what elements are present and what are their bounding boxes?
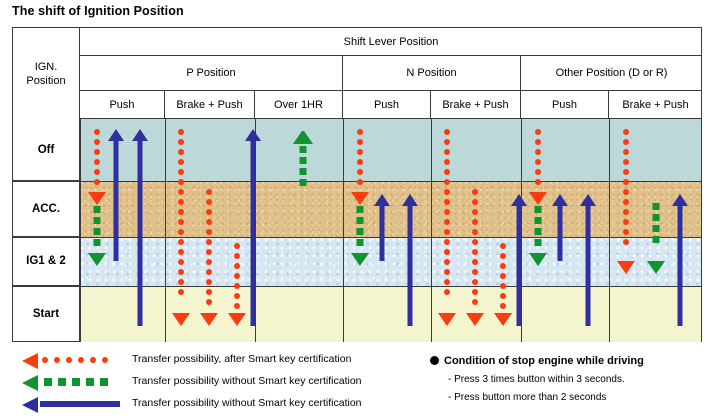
row-label-start: Start bbox=[13, 286, 80, 342]
corner-header-ign-position: IGN. Position bbox=[13, 28, 80, 119]
row-label-acc: ACC. bbox=[13, 181, 80, 237]
arrow-p-over1hr-green-acc-to-off bbox=[293, 131, 313, 206]
subheader-other-push: Push bbox=[521, 91, 609, 119]
bullet-icon bbox=[430, 356, 439, 365]
ignition-shift-table: IGN. Position Shift Lever Position P Pos… bbox=[12, 27, 702, 342]
arrow-p-push-red-off-to-acc bbox=[87, 129, 107, 205]
arrow-other-brake-red-off-to-ig bbox=[616, 129, 636, 274]
arrow-n-brake-blue-start-to-acc bbox=[511, 194, 527, 326]
arrow-n-brake-red-ig-to-start bbox=[493, 243, 513, 326]
arrow-p-brake-red-ig-to-start bbox=[227, 243, 247, 326]
arrow-p-push-blue-start-to-off bbox=[132, 129, 148, 326]
arrow-p-push-blue-ig-to-off bbox=[108, 129, 124, 261]
group-header-other-position: Other Position (D or R) bbox=[521, 56, 702, 91]
red-dotted-left-arrow-icon bbox=[22, 350, 122, 370]
subheader-p-over-1hr: Over 1HR bbox=[255, 91, 343, 119]
subheader-p-brake-push: Brake + Push bbox=[165, 91, 255, 119]
arrow-other-push-green-acc-to-ig bbox=[528, 206, 548, 266]
blue-solid-left-arrow-icon bbox=[22, 394, 122, 414]
legend-right-item-1: - Press 3 times button within 3 seconds. bbox=[448, 374, 710, 385]
col-divider-p-over1hr bbox=[343, 119, 344, 342]
arrow-n-push-blue-ig-to-acc bbox=[374, 194, 390, 261]
subheader-other-brake-push: Brake + Push bbox=[609, 91, 702, 119]
arrow-p-push-green-acc-to-ig bbox=[87, 206, 107, 266]
col-divider-label bbox=[80, 119, 81, 342]
arrow-other-push-blue-ig-to-acc bbox=[552, 194, 568, 261]
legend-right-title: Condition of stop engine while driving bbox=[444, 355, 644, 367]
arrow-other-brake-green-acc-to-ig bbox=[646, 203, 666, 274]
arrow-n-push-red-off-to-acc bbox=[350, 129, 370, 205]
legend-right: Condition of stop engine while driving -… bbox=[430, 355, 710, 403]
arrow-n-push-blue-start-to-acc bbox=[402, 194, 418, 326]
legend-item-blue-solid: Transfer possibility without Smart key c… bbox=[22, 394, 382, 416]
legend-item-green-dashed: Transfer possibility without Smart key c… bbox=[22, 372, 382, 394]
arrow-n-brake-red-acc-to-start bbox=[465, 189, 485, 326]
subheader-n-brake-push: Brake + Push bbox=[431, 91, 521, 119]
legend-label-red-dotted: Transfer possibility, after Smart key ce… bbox=[132, 353, 351, 365]
row-label-off: Off bbox=[13, 119, 80, 181]
page-title: The shift of Ignition Position bbox=[12, 4, 184, 18]
arrow-p-brake-red-off-to-start bbox=[171, 129, 191, 326]
arrow-p-brake-red-acc-to-start bbox=[199, 189, 219, 326]
row-divider-ig-start bbox=[13, 286, 701, 287]
legend-right-title-row: Condition of stop engine while driving bbox=[430, 355, 710, 367]
arrow-other-push-blue-start-to-acc bbox=[580, 194, 596, 326]
legend-left: Transfer possibility, after Smart key ce… bbox=[22, 350, 382, 416]
group-header-p-position: P Position bbox=[80, 56, 343, 91]
col-divider-n-push bbox=[431, 119, 432, 342]
row-label-ig1-2: IG1 & 2 bbox=[13, 237, 80, 286]
legend-item-red-dotted: Transfer possibility, after Smart key ce… bbox=[22, 350, 382, 372]
group-header-n-position: N Position bbox=[343, 56, 521, 91]
arrow-n-push-green-acc-to-ig bbox=[350, 206, 370, 266]
legend-label-green-dashed: Transfer possibility without Smart key c… bbox=[132, 375, 362, 387]
corner-label-line1: IGN. bbox=[35, 60, 58, 74]
legend-right-item-2: - Press button more than 2 seconds bbox=[448, 392, 710, 403]
subheader-n-push: Push bbox=[343, 91, 431, 119]
corner-label-line2: Position bbox=[26, 74, 65, 88]
legend-label-blue-solid: Transfer possibility without Smart key c… bbox=[132, 397, 362, 409]
header-shift-lever-position: Shift Lever Position bbox=[80, 28, 702, 56]
arrow-other-push-red-off-to-acc bbox=[528, 129, 548, 205]
arrow-p-brake-blue-start-to-off bbox=[245, 129, 261, 326]
col-divider-other-push bbox=[609, 119, 610, 342]
green-dashed-left-arrow-icon bbox=[22, 372, 122, 392]
arrow-n-brake-red-off-to-start bbox=[437, 129, 457, 326]
arrow-other-brake-blue-start-to-acc bbox=[672, 194, 688, 326]
subheader-p-push: Push bbox=[80, 91, 165, 119]
col-divider-p-push bbox=[165, 119, 166, 342]
